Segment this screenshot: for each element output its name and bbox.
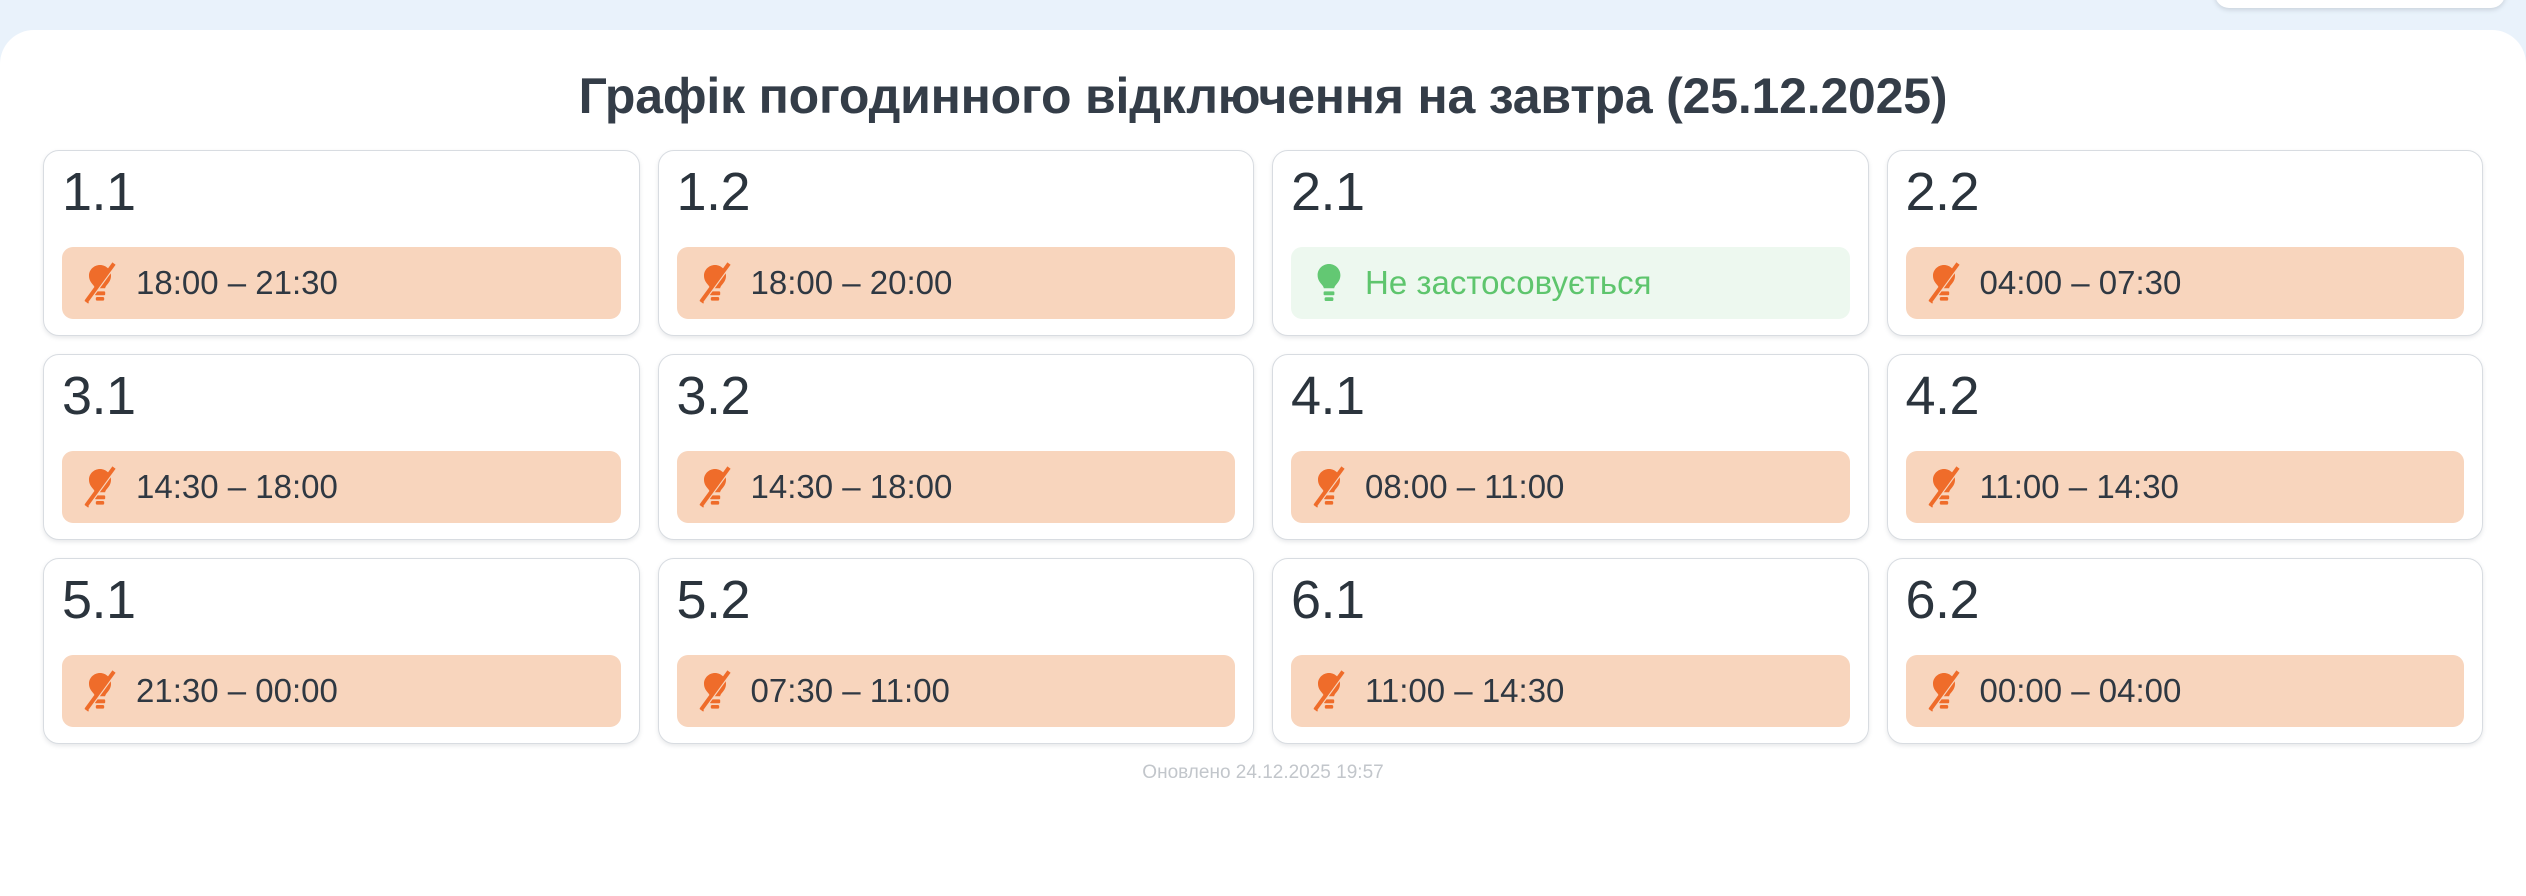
slot-list: 11:00 – 14:30	[1906, 451, 2465, 523]
queue-label: 5.1	[62, 573, 621, 627]
no-outage-slot[interactable]: Не застосовується	[1291, 247, 1850, 319]
queue-card[interactable]: 6.111:00 – 14:30	[1272, 558, 1869, 744]
slot-time-label: 00:00 – 04:00	[1980, 673, 2182, 709]
outage-slot[interactable]: 21:30 – 00:00	[62, 655, 621, 727]
slot-time-label: 21:30 – 00:00	[136, 673, 338, 709]
slot-list: 00:00 – 04:00	[1906, 655, 2465, 727]
outage-slot[interactable]: 14:30 – 18:00	[677, 451, 1236, 523]
updated-timestamp: Оновлено 24.12.2025 19:57	[0, 762, 2526, 784]
bulb-off-icon	[1309, 465, 1349, 509]
queue-label: 3.2	[677, 369, 1236, 423]
bulb-off-icon	[80, 465, 120, 509]
bulb-off-icon	[695, 261, 735, 305]
queue-label: 3.1	[62, 369, 621, 423]
outage-slot[interactable]: 07:30 – 11:00	[677, 655, 1236, 727]
outage-slot[interactable]: 11:00 – 14:30	[1906, 451, 2465, 523]
slot-list: 14:30 – 18:00	[677, 451, 1236, 523]
queue-label: 6.1	[1291, 573, 1850, 627]
outage-slot[interactable]: 00:00 – 04:00	[1906, 655, 2465, 727]
queue-label: 4.2	[1906, 369, 2465, 423]
queue-card[interactable]: 4.108:00 – 11:00	[1272, 354, 1869, 540]
slot-time-label: 04:00 – 07:30	[1980, 265, 2182, 301]
bulb-off-icon	[1924, 465, 1964, 509]
slot-time-label: 11:00 – 14:30	[1365, 673, 1564, 709]
bulb-off-icon	[80, 669, 120, 713]
queue-label: 1.2	[677, 165, 1236, 219]
slot-list: 11:00 – 14:30	[1291, 655, 1850, 727]
slot-time-label: 14:30 – 18:00	[136, 469, 338, 505]
slot-time-label: 18:00 – 20:00	[751, 265, 953, 301]
outage-slot[interactable]: 08:00 – 11:00	[1291, 451, 1850, 523]
bulb-off-icon	[695, 465, 735, 509]
slot-list: Не застосовується	[1291, 247, 1850, 319]
bulb-off-icon	[1924, 669, 1964, 713]
queue-grid: 1.118:00 – 21:301.218:00 – 20:002.1Не за…	[43, 150, 2483, 744]
slot-time-label: 08:00 – 11:00	[1365, 469, 1564, 505]
queue-card[interactable]: 2.1Не застосовується	[1272, 150, 1869, 336]
slot-time-label: 07:30 – 11:00	[751, 673, 950, 709]
slot-list: 08:00 – 11:00	[1291, 451, 1850, 523]
outage-slot[interactable]: 04:00 – 07:30	[1906, 247, 2465, 319]
queue-card[interactable]: 2.204:00 – 07:30	[1887, 150, 2484, 336]
outage-slot[interactable]: 14:30 – 18:00	[62, 451, 621, 523]
bulb-off-icon	[1924, 261, 1964, 305]
partial-card-above	[2215, 0, 2505, 8]
slot-list: 04:00 – 07:30	[1906, 247, 2465, 319]
page-title: Графік погодинного відключення на завтра…	[0, 30, 2526, 124]
queue-card[interactable]: 1.118:00 – 21:30	[43, 150, 640, 336]
outage-slot[interactable]: 11:00 – 14:30	[1291, 655, 1850, 727]
queue-card[interactable]: 1.218:00 – 20:00	[658, 150, 1255, 336]
queue-card[interactable]: 5.121:30 – 00:00	[43, 558, 640, 744]
slot-time-label: 18:00 – 21:30	[136, 265, 338, 301]
bulb-off-icon	[80, 261, 120, 305]
queue-card[interactable]: 3.214:30 – 18:00	[658, 354, 1255, 540]
slot-list: 18:00 – 20:00	[677, 247, 1236, 319]
slot-list: 18:00 – 21:30	[62, 247, 621, 319]
bulb-on-icon	[1309, 261, 1349, 305]
bulb-off-icon	[695, 669, 735, 713]
slot-list: 14:30 – 18:00	[62, 451, 621, 523]
queue-card[interactable]: 4.211:00 – 14:30	[1887, 354, 2484, 540]
queue-label: 6.2	[1906, 573, 2465, 627]
queue-card[interactable]: 3.114:30 – 18:00	[43, 354, 640, 540]
queue-label: 5.2	[677, 573, 1236, 627]
queue-label: 2.1	[1291, 165, 1850, 219]
slot-list: 21:30 – 00:00	[62, 655, 621, 727]
bulb-off-icon	[1309, 669, 1349, 713]
slot-time-label: 11:00 – 14:30	[1980, 469, 2179, 505]
outage-slot[interactable]: 18:00 – 20:00	[677, 247, 1236, 319]
slot-time-label: 14:30 – 18:00	[751, 469, 953, 505]
outage-slot[interactable]: 18:00 – 21:30	[62, 247, 621, 319]
slot-time-label: Не застосовується	[1365, 265, 1651, 301]
queue-label: 4.1	[1291, 369, 1850, 423]
queue-label: 2.2	[1906, 165, 2465, 219]
slot-list: 07:30 – 11:00	[677, 655, 1236, 727]
schedule-panel: Графік погодинного відключення на завтра…	[0, 30, 2526, 896]
queue-label: 1.1	[62, 165, 621, 219]
queue-card[interactable]: 6.200:00 – 04:00	[1887, 558, 2484, 744]
queue-card[interactable]: 5.207:30 – 11:00	[658, 558, 1255, 744]
